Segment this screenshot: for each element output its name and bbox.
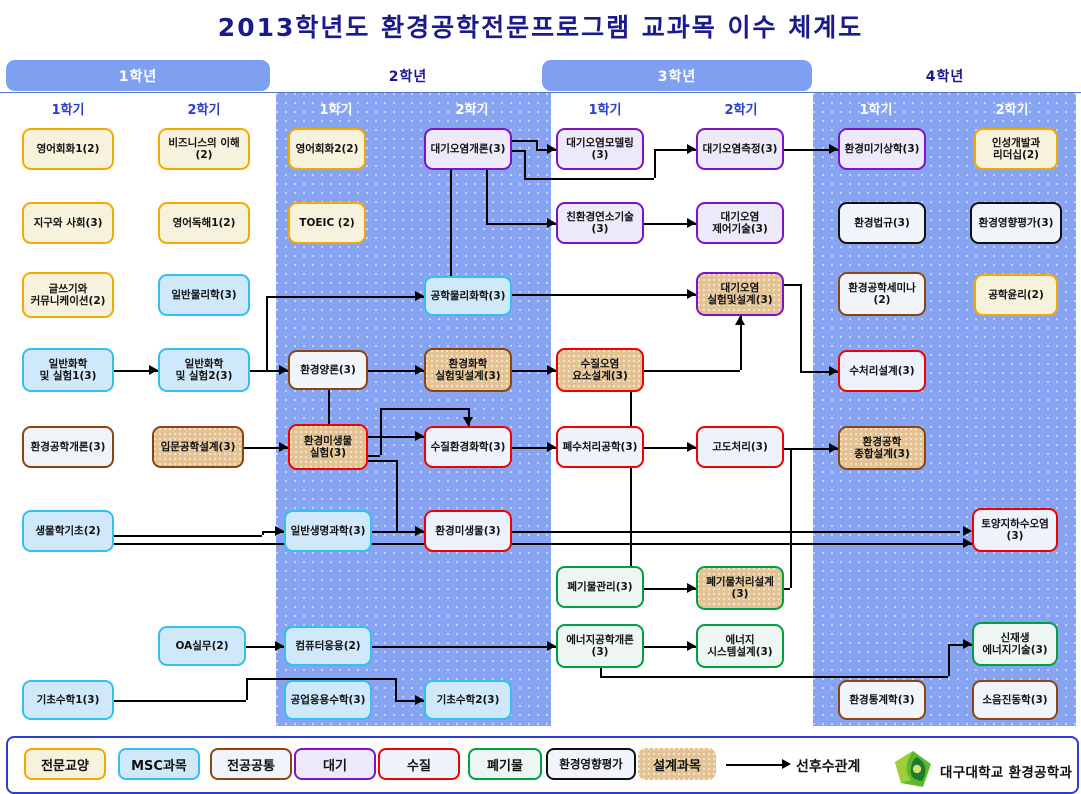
wire-envintro-engphys-h [266, 296, 424, 298]
course-label: 기초수학2(3) [437, 694, 500, 706]
arrowhead-waterdes [829, 366, 838, 376]
arrowhead-greentech [547, 218, 556, 228]
course-label: 폐기물관리(3) [567, 581, 632, 593]
legend-item-air: 대기 [294, 748, 376, 780]
arrowhead-waterfac [547, 365, 556, 375]
course-label: 환경영향평가(3) [979, 217, 1054, 229]
course-box-earth[interactable]: 지구와 사회(3) [22, 202, 114, 244]
course-box-chem2[interactable]: 일반화학및 실험2(3) [158, 348, 250, 392]
course-box-wastedes[interactable]: 폐기물처리설계(3) [696, 566, 784, 610]
course-box-airctrl[interactable]: 대기오염제어기술(3) [696, 202, 784, 244]
course-label: 글쓰기와커뮤니케이션(2) [31, 283, 106, 307]
course-box-eia[interactable]: 환경영향평가(3) [970, 202, 1062, 244]
course-box-waterfac[interactable]: 수질오염요소설계(3) [556, 348, 644, 392]
year-banner-4-label: 4학년 [926, 66, 965, 86]
course-box-biz[interactable]: 비즈니스의 이해(2) [158, 128, 250, 170]
course-label: 폐수처리공학(3) [563, 441, 638, 453]
course-label: 일반생명과학(3) [291, 525, 366, 537]
course-label: 기초수학1(3) [37, 694, 100, 706]
course-box-airexp[interactable]: 대기오염실험및설계(3) [696, 272, 784, 316]
wire-airintro-meas-h1 [512, 150, 524, 152]
semester-header-6: 2학기 [687, 99, 795, 119]
course-label: 지구와 사회(3) [34, 217, 103, 229]
course-box-math1[interactable]: 기초수학1(3) [22, 680, 114, 720]
course-label: 환경공학개론(3) [31, 441, 106, 453]
course-label: 소음진동학(3) [982, 694, 1047, 706]
arrowhead-energyint [547, 641, 556, 651]
course-label: 대기오염제어기술(3) [712, 211, 768, 235]
wire-biobasic-lifesci-h1 [114, 535, 262, 537]
wire-airintro-airmodel-h1 [512, 140, 536, 142]
course-box-airmodel[interactable]: 대기오염모델링(3) [556, 128, 644, 170]
legend-label-air: 대기 [323, 755, 347, 774]
course-box-energysys[interactable]: 에너지시스템설계(3) [696, 624, 784, 668]
wire-airintro-meas-v2 [654, 149, 656, 178]
arrowhead-airctrl [687, 218, 696, 228]
wire-math2-v [395, 678, 397, 700]
year-banner-3-label: 3학년 [658, 66, 697, 86]
course-label: 대기오염모델링(3) [566, 137, 634, 161]
wire-airexp-wd-h1 [784, 284, 800, 286]
course-label: 수질오염요소설계(3) [572, 358, 628, 382]
legend-label-eia: 환경영향평가 [559, 756, 622, 772]
legend-label-design: 설계과목 [653, 755, 701, 774]
semester-header-1: 1학기 [14, 99, 122, 119]
wire-wastedes-cd-v [790, 448, 792, 588]
legend-label-general: 전문교양 [41, 755, 89, 774]
course-box-envchemex[interactable]: 환경화학실험및설계(3) [424, 348, 512, 392]
course-box-leader[interactable]: 인성개발과리더십(2) [974, 128, 1058, 170]
course-box-energyint[interactable]: 에너지공학개론(3) [556, 624, 644, 668]
wire-airintro-meas-h2 [524, 178, 654, 180]
arrowhead-envchemex [415, 365, 424, 375]
wire-biobasic-soilgw [114, 543, 972, 545]
course-label: 영어독해1(2) [173, 217, 236, 229]
arrowhead-math2 [415, 695, 424, 705]
course-label: 공학물리화학(3) [431, 290, 506, 302]
wire-chem2-envintro-h1 [250, 370, 262, 372]
legend-label-waste: 폐기물 [487, 755, 523, 774]
course-label: 환경화학실험및설계(3) [435, 358, 500, 382]
course-label: 환경법규(3) [854, 217, 910, 229]
year-banner-2: 2학년 [276, 60, 540, 91]
arrowhead-envintro [279, 365, 288, 375]
course-box-micromet[interactable]: 환경미기상학(3) [838, 128, 926, 170]
year-banner-2-label: 2학년 [389, 66, 428, 86]
course-box-wastemgmt[interactable]: 폐기물관리(3) [556, 566, 644, 608]
header-divider [0, 92, 1081, 93]
arrowhead-airmodel [547, 144, 556, 154]
year-banner-1: 1학년 [6, 60, 270, 91]
legend-relation-arrowhead [782, 759, 791, 769]
wire-waterfac-h [644, 370, 740, 372]
course-label: 에너지공학개론(3) [566, 634, 634, 658]
course-label: 환경공학세미나(2) [848, 282, 916, 306]
wire-wastedes-cd-h [784, 588, 790, 590]
arrowhead-soilgw [963, 538, 972, 548]
arrowhead-envmicro [415, 526, 424, 536]
course-label: OA실무(2) [176, 640, 229, 652]
course-label: 환경공학종합설계(3) [854, 436, 910, 460]
wire-airexp-wd-v [800, 284, 802, 371]
course-label: 대기오염실험및설계(3) [707, 282, 772, 306]
arrowhead-wastewtr [547, 442, 556, 452]
arrowhead-wastedes [687, 583, 696, 593]
wire-airintro-green-h [486, 223, 556, 225]
course-box-envintro[interactable]: 환경양론(3) [288, 350, 368, 390]
course-box-advtreat[interactable]: 고도처리(3) [696, 426, 784, 468]
arrowhead-waterchem-top [463, 417, 473, 426]
course-box-compdes[interactable]: 환경공학종합설계(3) [838, 426, 926, 470]
arrowhead-compapp [275, 641, 284, 651]
wire-compapp-energyint-h1 [372, 646, 534, 648]
wire-energyint-renew-v2 [948, 644, 950, 676]
course-box-airmeas[interactable]: 대기오염측정(3) [696, 128, 784, 170]
course-label: 환경미생물실험(3) [304, 435, 352, 459]
arrowhead-soilgw-in [963, 526, 972, 536]
legend-label-water: 수질 [407, 755, 431, 774]
semester-header-3: 1학기 [282, 99, 390, 119]
course-box-envlaw[interactable]: 환경법규(3) [838, 202, 926, 244]
wire-introdes-envmicex-h1 [244, 447, 262, 449]
course-label: 일반화학및 실험2(3) [176, 358, 233, 382]
course-label: TOEIC (2) [299, 217, 354, 229]
course-label: 컴퓨터응용(2) [295, 640, 360, 652]
course-box-introdes[interactable]: 입문공학설계(3) [152, 426, 244, 468]
course-box-lifesci[interactable]: 일반생명과학(3) [284, 510, 372, 552]
course-box-writing[interactable]: 글쓰기와커뮤니케이션(2) [22, 272, 114, 318]
wire-math1-h1 [114, 700, 246, 702]
wire-envintro-envchemex-h1 [368, 370, 388, 372]
wire-airintro-airmodel-v [536, 140, 538, 149]
legend-item-eia: 환경영향평가 [546, 748, 636, 780]
arrowhead-renewable [963, 639, 972, 649]
course-box-engphys[interactable]: 공학물리화학(3) [424, 276, 512, 316]
legend-item-waste: 폐기물 [468, 748, 542, 780]
semester-header-8: 2학기 [958, 99, 1066, 119]
course-box-noise[interactable]: 소음진동학(3) [972, 680, 1058, 720]
semester-header-7: 1학기 [822, 99, 930, 119]
course-label: 환경미기상학(3) [845, 143, 920, 155]
arrowhead-micromet [829, 144, 838, 154]
course-box-biobasic[interactable]: 생물학기초(2) [22, 510, 114, 552]
course-box-airintro[interactable]: 대기오염개론(3) [424, 128, 512, 170]
course-box-ethics[interactable]: 공학윤리(2) [974, 274, 1058, 316]
course-box-envmicex[interactable]: 환경미생물실험(3) [288, 424, 368, 470]
course-box-wastewtr[interactable]: 폐수처리공학(3) [556, 426, 644, 468]
year-banner-3: 3학년 [542, 60, 812, 91]
legend-item-msc: MSC과목 [118, 748, 200, 780]
wire-envintro-d3 [380, 408, 382, 455]
course-label: 대기오염개론(3) [431, 143, 506, 155]
course-box-seminar[interactable]: 환경공학세미나(2) [838, 272, 926, 316]
course-label: 환경미생물(3) [435, 525, 500, 537]
legend-item-general: 전문교양 [24, 748, 106, 780]
course-label: 토양지하수오염(3) [981, 518, 1049, 542]
course-box-eng1[interactable]: 영어회화1(2) [22, 128, 114, 170]
arrowhead-energysys [687, 641, 696, 651]
arrowhead-envmicex [279, 442, 288, 452]
wire-math1-v [246, 678, 248, 700]
arrowhead-lifesci [275, 526, 284, 536]
course-label: 폐기물처리설계(3) [706, 576, 774, 600]
arrowhead-airexp-bottom [735, 316, 745, 325]
course-box-envengint[interactable]: 환경공학개론(3) [22, 426, 114, 468]
course-box-soilgw[interactable]: 토양지하수오염(3) [972, 508, 1058, 552]
year-banner-4: 4학년 [814, 60, 1076, 91]
course-label: 공업응용수학(3) [291, 694, 366, 706]
legend-label-core: 전공공통 [227, 755, 275, 774]
wire-envmicex-v [396, 460, 398, 531]
course-box-envmicro[interactable]: 환경미생물(3) [424, 510, 512, 552]
course-label: 일반화학및 실험1(3) [40, 358, 97, 382]
course-label: 환경통계학(3) [849, 694, 914, 706]
course-box-toeic[interactable]: TOEIC (2) [288, 202, 366, 244]
year-banner-1-label: 1학년 [119, 66, 158, 86]
legend-item-design: 설계과목 [638, 748, 716, 780]
wire-airintro-green-v [486, 170, 488, 223]
page-title: 2013학년도 환경공학전문프로그램 교과목 이수 체계도 [0, 8, 1081, 44]
arrowhead-compdes [829, 443, 838, 453]
course-label: 수질환경화학(3) [431, 441, 506, 453]
arrowhead-waterchem [415, 431, 424, 441]
course-label: 대기오염측정(3) [703, 143, 778, 155]
arrowhead-airmeas [687, 144, 696, 154]
course-box-greentech[interactable]: 친환경연소기술(3) [556, 202, 644, 244]
course-box-renewable[interactable]: 신재생에너지기술(3) [972, 622, 1058, 666]
course-box-eng2[interactable]: 영어회화2(2) [288, 128, 366, 170]
arrowhead-airexp [687, 289, 696, 299]
arrowhead-engphys [415, 291, 424, 301]
course-box-engread[interactable]: 영어독해1(2) [158, 202, 250, 244]
course-box-physics[interactable]: 일반물리학(3) [158, 274, 250, 316]
legend-item-core: 전공공통 [210, 748, 292, 780]
course-label: 에너지시스템설계(3) [707, 634, 772, 658]
wire-airintro-meas-v1 [524, 150, 526, 178]
arrowhead-advtreat [687, 442, 696, 452]
semester-header-2: 2학기 [150, 99, 258, 119]
course-label: 영어회화2(2) [296, 143, 359, 155]
arrowhead-chem2 [149, 365, 158, 375]
legend-relation-arrow-line [726, 764, 784, 766]
course-label: 영어회화1(2) [37, 143, 100, 155]
department-name: 대구대학교 환경공학과 [940, 761, 1072, 781]
course-label: 비즈니스의 이해(2) [168, 137, 239, 161]
course-label: 생물학기초(2) [35, 525, 100, 537]
course-box-waterchem[interactable]: 수질환경화학(3) [424, 426, 512, 468]
course-box-envstat[interactable]: 환경통계학(3) [838, 680, 926, 720]
course-box-chem1[interactable]: 일반화학및 실험1(3) [22, 348, 114, 392]
legend-item-water: 수질 [378, 748, 460, 780]
legend-label-msc: MSC과목 [131, 755, 187, 774]
university-logo-icon [893, 750, 933, 788]
wire-energyint-renew-h [600, 676, 948, 678]
semester-header-4: 2학기 [418, 99, 526, 119]
wire-envintro-engphys-v [266, 296, 268, 370]
wire-envmicro-long [512, 531, 960, 533]
legend-relation-label: 선후수관계 [796, 756, 860, 776]
wire-envintro-d4 [380, 408, 468, 410]
wire-energyint-renew-v1 [600, 668, 602, 676]
flowchart-canvas: 2013학년도 환경공학전문프로그램 교과목 이수 체계도 1학년 2학년 3학… [0, 0, 1081, 794]
course-box-waterdes[interactable]: 수처리설계(3) [838, 350, 926, 392]
wire-envmicex-h [368, 460, 396, 462]
course-label: 친환경연소기술(3) [566, 211, 634, 235]
course-label: 환경양론(3) [300, 364, 356, 376]
course-label: 수처리설계(3) [849, 365, 914, 377]
course-label: 공학윤리(2) [988, 289, 1044, 301]
semester-header-5: 1학기 [551, 99, 659, 119]
course-label: 입문공학설계(3) [161, 441, 236, 453]
course-box-indmath[interactable]: 공업응용수학(3) [284, 680, 372, 720]
course-label: 신재생에너지기술(3) [982, 632, 1047, 656]
course-label: 고도처리(3) [712, 441, 768, 453]
course-label: 일반물리학(3) [171, 289, 236, 301]
course-label: 인성개발과리더십(2) [992, 137, 1040, 161]
course-box-compapp[interactable]: 컴퓨터응용(2) [284, 626, 372, 666]
course-box-oa[interactable]: OA실무(2) [158, 626, 246, 666]
course-box-math2[interactable]: 기초수학2(3) [424, 680, 512, 720]
